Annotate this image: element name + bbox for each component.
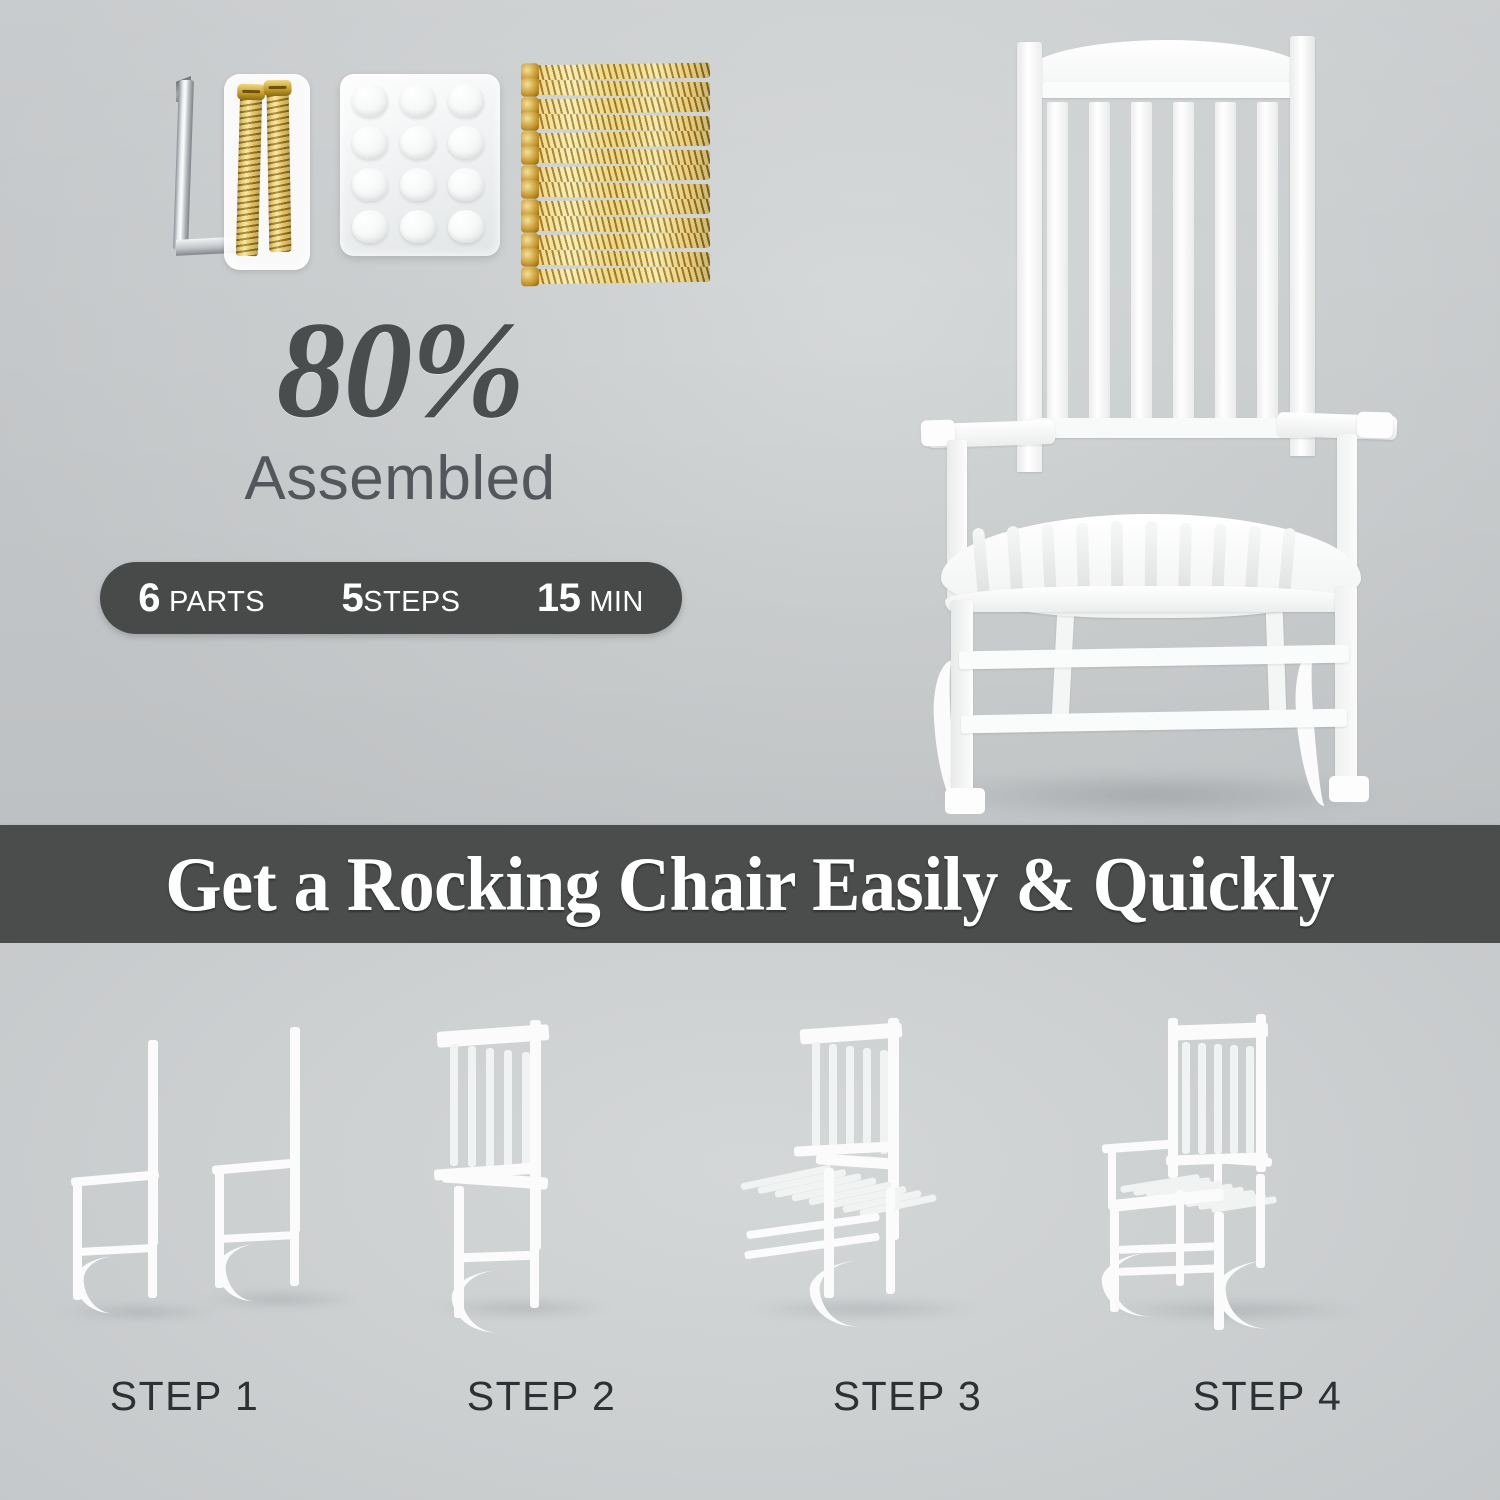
screw-icon bbox=[530, 216, 710, 234]
screw-icon bbox=[530, 63, 710, 81]
front-leg-right bbox=[1335, 586, 1357, 792]
th bbox=[530, 182, 710, 200]
back-slat bbox=[1215, 102, 1236, 420]
th bbox=[530, 165, 710, 183]
crest-rail bbox=[1023, 40, 1311, 88]
step-4-label: STEP 4 bbox=[1080, 1373, 1455, 1420]
screw-head bbox=[521, 214, 539, 233]
th bbox=[530, 80, 710, 98]
assembly-steps-row: STEP 1 STEP 2 STEP 3 STEP 4 bbox=[0, 943, 1500, 1500]
back-post bbox=[290, 1027, 299, 1233]
back-slat bbox=[1214, 1044, 1222, 1154]
caps-tray bbox=[340, 74, 500, 256]
plastic-cap-icon bbox=[352, 126, 388, 159]
stretcher bbox=[458, 1251, 538, 1263]
rocker-foot-left bbox=[945, 788, 985, 814]
th bbox=[530, 216, 710, 234]
plastic-cap-icon bbox=[352, 84, 388, 117]
stat-parts-unit: PARTS bbox=[169, 586, 265, 619]
back-slat bbox=[846, 1046, 854, 1152]
th bbox=[530, 63, 710, 81]
step-3-label: STEP 3 bbox=[720, 1373, 1095, 1420]
th bbox=[530, 114, 710, 132]
step-1-label: STEP 1 bbox=[0, 1373, 372, 1420]
stat-parts: 6 PARTS bbox=[138, 576, 265, 621]
headline-banner: Get a Rocking Chair Easily & Quickly bbox=[0, 825, 1500, 943]
assembly-steps-section: STEP 1 STEP 2 STEP 3 STEP 4 bbox=[0, 943, 1500, 1500]
step-4-illustration bbox=[1090, 998, 1465, 1338]
allen-wrench-icon bbox=[156, 70, 214, 280]
screw-head bbox=[521, 248, 539, 267]
seat-slat bbox=[1111, 521, 1124, 596]
assembled-percent-value: 80% bbox=[100, 300, 700, 441]
back-slat bbox=[812, 1042, 820, 1150]
allen-wrench-shaft bbox=[173, 80, 194, 250]
plastic-cap-icon bbox=[400, 210, 436, 243]
back-slat bbox=[829, 1044, 837, 1151]
screw-icon bbox=[530, 97, 710, 115]
screw-icon bbox=[530, 148, 710, 166]
screw-head bbox=[521, 78, 539, 97]
infographic-page: 80% Assembled 6 PARTS 5 STEPS 15 MIN bbox=[0, 0, 1500, 1500]
rocker bbox=[450, 1267, 550, 1336]
banner-title: Get a Rocking Chair Easily & Quickly bbox=[166, 840, 1335, 929]
stat-min-unit: MIN bbox=[589, 586, 643, 619]
screw-icon bbox=[530, 233, 710, 251]
step-1-illustration bbox=[35, 998, 410, 1338]
top-section: 80% Assembled 6 PARTS 5 STEPS 15 MIN bbox=[0, 0, 1500, 825]
step-2-cell: STEP 2 bbox=[382, 943, 757, 1500]
screw-icon bbox=[530, 114, 710, 132]
back-post-left bbox=[1168, 1018, 1178, 1178]
back-slat bbox=[1047, 102, 1068, 420]
screw-icon bbox=[530, 131, 710, 149]
assembled-percent-label: Assembled bbox=[100, 443, 700, 514]
screw-head bbox=[521, 112, 539, 131]
plastic-cap-icon bbox=[448, 84, 484, 117]
back-slat bbox=[1173, 102, 1194, 420]
crest-rail-lip bbox=[1029, 82, 1305, 98]
back-slat bbox=[1198, 1043, 1206, 1154]
plastic-cap-icon bbox=[448, 210, 484, 243]
screws-bundle bbox=[530, 56, 720, 288]
back-slat bbox=[1089, 102, 1110, 420]
back-slat bbox=[486, 1048, 494, 1168]
back-slat bbox=[468, 1046, 476, 1167]
back-post-right bbox=[1256, 1014, 1266, 1172]
th bbox=[530, 199, 710, 217]
bolts-bag bbox=[224, 74, 310, 270]
step-2-label: STEP 2 bbox=[354, 1373, 729, 1420]
front-leg-left bbox=[951, 600, 973, 800]
side-stretcher-upper bbox=[959, 645, 1349, 670]
th bbox=[530, 148, 710, 166]
stat-min-number: 15 bbox=[537, 576, 581, 621]
back-slat bbox=[1230, 1045, 1238, 1154]
stat-steps-number: 5 bbox=[342, 576, 364, 621]
assembled-percent-block: 80% Assembled bbox=[100, 300, 700, 514]
rocker-foot-right bbox=[1329, 776, 1369, 802]
plastic-cap-icon bbox=[448, 168, 484, 201]
crest-rail bbox=[1168, 1022, 1268, 1040]
stat-steps-unit: STEPS bbox=[363, 586, 460, 619]
back-post-right bbox=[1290, 36, 1315, 456]
plastic-cap-icon bbox=[352, 210, 388, 243]
bolt-icon bbox=[236, 96, 262, 257]
th bbox=[530, 97, 710, 115]
seat-front-rail bbox=[945, 586, 1357, 612]
stat-min: 15 MIN bbox=[537, 576, 644, 621]
th bbox=[530, 267, 710, 285]
plastic-cap-icon bbox=[400, 126, 436, 159]
step-2-illustration bbox=[382, 998, 757, 1338]
stat-steps: 5 STEPS bbox=[342, 576, 461, 621]
back-slat bbox=[863, 1048, 871, 1153]
arm-rail bbox=[212, 1158, 301, 1175]
arm-rail bbox=[70, 1171, 159, 1188]
plastic-cap-icon bbox=[352, 168, 388, 201]
screw-icon bbox=[530, 80, 710, 98]
back-slat bbox=[522, 1052, 530, 1170]
back-slat bbox=[1246, 1046, 1254, 1154]
screw-icon bbox=[530, 267, 710, 285]
rear-leg-right bbox=[1256, 1174, 1265, 1268]
screw-head bbox=[521, 180, 539, 199]
back-bottom-rail bbox=[1023, 418, 1313, 438]
back-slat bbox=[504, 1050, 512, 1169]
bolt-icon bbox=[267, 92, 292, 252]
th bbox=[530, 250, 710, 268]
step-3-cell: STEP 3 bbox=[728, 943, 1103, 1500]
seat-slat bbox=[1145, 521, 1158, 596]
back-slat bbox=[1182, 1042, 1190, 1154]
main-product-image bbox=[905, 20, 1405, 810]
plastic-cap-icon bbox=[400, 84, 436, 117]
step-3-illustration bbox=[728, 998, 1103, 1338]
screw-head bbox=[521, 267, 539, 286]
side-stretcher-lower bbox=[961, 709, 1347, 734]
step-4-cell: STEP 4 bbox=[1090, 943, 1465, 1500]
screw-icon bbox=[530, 199, 710, 217]
screw-head bbox=[521, 146, 539, 165]
plastic-cap-icon bbox=[448, 126, 484, 159]
th bbox=[530, 233, 710, 251]
th bbox=[530, 131, 710, 149]
armrest-right-cap bbox=[1357, 411, 1394, 438]
back-slat bbox=[450, 1044, 458, 1166]
assembly-stats-pill: 6 PARTS 5 STEPS 15 MIN bbox=[100, 562, 682, 634]
back-post bbox=[148, 1040, 157, 1246]
back-slat bbox=[880, 1050, 888, 1154]
screw-icon bbox=[530, 182, 710, 200]
screw-icon bbox=[530, 165, 710, 183]
back-post-left bbox=[1017, 42, 1042, 472]
back-slat bbox=[1131, 102, 1152, 420]
stat-parts-number: 6 bbox=[138, 576, 160, 621]
plastic-cap-icon bbox=[400, 168, 436, 201]
back-slat bbox=[1257, 102, 1278, 420]
screw-icon bbox=[530, 250, 710, 268]
hardware-parts-group bbox=[140, 48, 680, 288]
